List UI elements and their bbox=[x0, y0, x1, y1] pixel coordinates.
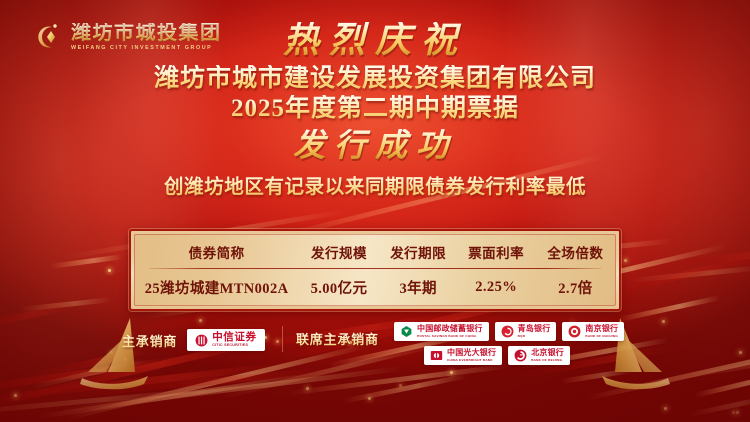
beijing-emblem-icon bbox=[514, 349, 527, 362]
table-cell: 5.00亿元 bbox=[298, 269, 380, 305]
bank-name-en: POSTAL SAVINGS BANK OF CHINA bbox=[417, 335, 483, 338]
table-header-cell: 债券简称 bbox=[135, 235, 298, 268]
table-header-row: 债券简称发行规模发行期限票面利率全场倍数 bbox=[135, 235, 615, 268]
headline-block: 热烈庆祝 潍坊市城市建设发展投资集团有限公司 2025年度第二期中期票据 发行成… bbox=[0, 22, 750, 199]
table-cell: 25潍坊城建MTN002A bbox=[135, 269, 298, 305]
bank-name-cn: 中国光大银行 bbox=[447, 349, 496, 357]
bank-logo-chip: 中国邮政储蓄银行POSTAL SAVINGS BANK OF CHINA bbox=[394, 322, 489, 341]
table-cell: 3年期 bbox=[380, 269, 457, 305]
bond-data-table: 债券简称发行规模发行期限票面利率全场倍数 25潍坊城建MTN002A5.00亿元… bbox=[129, 229, 621, 311]
subtitle-text: 创潍坊地区有记录以来同期限债券发行利率最低 bbox=[0, 170, 750, 199]
company-title: 潍坊市城市建设发展投资集团有限公司 bbox=[0, 65, 750, 93]
joint-underwriter-row-2: 中国光大银行CHINA EVERBRIGHT BANK北京银行BANK OF B… bbox=[424, 346, 570, 365]
celebrate-title: 热烈庆祝 bbox=[283, 22, 467, 58]
lead-underwriter-group: 主承销商 中信证券CITIC SECURITIES bbox=[122, 329, 265, 351]
everbright-emblem-icon bbox=[430, 349, 443, 362]
bank-logo-chip: 南京银行BANK OF NANJING bbox=[562, 322, 624, 341]
bank-logo-chip: 青岛银行BQD bbox=[495, 322, 557, 341]
bqd-emblem-icon bbox=[501, 325, 514, 338]
bank-name-en: CHINA EVERBRIGHT BANK bbox=[447, 359, 496, 362]
bank-name-cn: 青岛银行 bbox=[518, 325, 551, 333]
underwriter-section: 主承销商 中信证券CITIC SECURITIES 联席主承销商 中国邮政储蓄银… bbox=[0, 322, 750, 380]
bank-logo-chip: 中国光大银行CHINA EVERBRIGHT BANK bbox=[424, 346, 502, 365]
lead-underwriter-label: 主承销商 bbox=[122, 331, 177, 350]
bank-name-en: CITIC SECURITIES bbox=[212, 344, 256, 348]
table-body: 25潍坊城建MTN002A5.00亿元3年期2.25%2.7倍 bbox=[135, 269, 615, 305]
underwriter-separator bbox=[282, 326, 283, 352]
joint-underwriter-label-group: 联席主承销商 bbox=[296, 329, 379, 348]
bank-logo-chip: 中信证券CITIC SECURITIES bbox=[187, 329, 264, 351]
bank-name-cn: 中信证券 bbox=[212, 332, 256, 343]
bank-name-en: BQD bbox=[518, 335, 551, 338]
bank-name-cn: 中国邮政储蓄银行 bbox=[417, 325, 483, 333]
success-title: 发行成功 bbox=[293, 129, 457, 161]
joint-underwriter-row-1: 中国邮政储蓄银行POSTAL SAVINGS BANK OF CHINA青岛银行… bbox=[394, 322, 624, 341]
bank-name-en: BANK OF NANJING bbox=[585, 335, 618, 338]
joint-underwriter-label: 联席主承销商 bbox=[296, 329, 379, 348]
bank-name-cn: 北京银行 bbox=[531, 349, 564, 357]
bank-name-en: BANK OF BEIJING bbox=[531, 359, 564, 362]
table-header-cell: 全场倍数 bbox=[536, 235, 615, 268]
table-header-cell: 发行期限 bbox=[380, 235, 457, 268]
table-row: 25潍坊城建MTN002A5.00亿元3年期2.25%2.7倍 bbox=[135, 269, 615, 305]
table-header-cell: 发行规模 bbox=[298, 235, 380, 268]
bank-logo-chip: 北京银行BANK OF BEIJING bbox=[508, 346, 570, 365]
psbc-emblem-icon bbox=[400, 325, 413, 338]
table-header-cell: 票面利率 bbox=[457, 235, 536, 268]
celebration-poster: 潍坊市城投集团 WEIFANG CITY INVESTMENT GROUP 热烈… bbox=[0, 0, 750, 422]
bank-name-cn: 南京银行 bbox=[585, 325, 618, 333]
nanjing-emblem-icon bbox=[568, 325, 581, 338]
issue-title: 2025年度第二期中期票据 bbox=[0, 95, 750, 123]
citic-emblem-icon bbox=[195, 334, 208, 347]
table-cell: 2.25% bbox=[457, 269, 536, 305]
table-cell: 2.7倍 bbox=[536, 269, 615, 305]
